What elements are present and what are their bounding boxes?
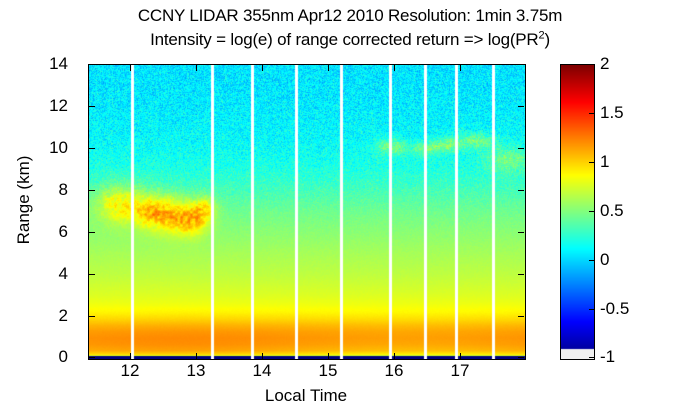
colorbar-tick-mark xyxy=(589,64,594,65)
x-tick-label: 16 xyxy=(374,362,414,379)
figure-title-line-2: Intensity = log(e) of range corrected re… xyxy=(0,28,700,52)
figure-title-line-2-text: Intensity = log(e) of range corrected re… xyxy=(150,30,538,49)
colorbar xyxy=(560,64,595,360)
y-tick-mark xyxy=(89,106,95,107)
y-tick-mark-right xyxy=(518,232,524,233)
colorbar-tick-mark xyxy=(589,113,594,114)
y-tick-mark-right xyxy=(518,106,524,107)
x-tick-mark xyxy=(196,353,197,359)
x-tick-mark-top xyxy=(460,65,461,71)
y-tick-label: 0 xyxy=(59,348,68,365)
colorbar-tick-label: 0.5 xyxy=(600,202,624,219)
colorbar-tick-mark xyxy=(589,309,594,310)
y-tick-mark xyxy=(89,316,95,317)
x-tick-mark-top xyxy=(130,65,131,71)
y-tick-mark xyxy=(89,64,95,65)
x-tick-mark-top xyxy=(328,65,329,71)
colorbar-tick-mark xyxy=(589,357,594,358)
lidar-heatmap-canvas xyxy=(89,65,525,359)
y-tick-label: 6 xyxy=(59,223,68,240)
y-tick-mark-right xyxy=(518,190,524,191)
lidar-heatmap-plot xyxy=(88,64,526,360)
y-tick-mark xyxy=(89,357,95,358)
x-tick-mark-top xyxy=(394,65,395,71)
y-tick-mark xyxy=(89,274,95,275)
colorbar-tick-label: -0.5 xyxy=(600,300,629,317)
x-tick-mark xyxy=(130,353,131,359)
x-tick-mark-top xyxy=(262,65,263,71)
x-tick-mark xyxy=(394,353,395,359)
y-tick-mark-right xyxy=(518,148,524,149)
y-tick-mark xyxy=(89,190,95,191)
y-tick-label: 2 xyxy=(59,307,68,324)
colorbar-tick-label: 2 xyxy=(600,55,609,72)
y-tick-mark-right xyxy=(518,64,524,65)
x-tick-mark-top xyxy=(196,65,197,71)
y-tick-label: 12 xyxy=(49,97,68,114)
colorbar-tick-label: 1 xyxy=(600,153,609,170)
lidar-figure: CCNY LIDAR 355nm Apr12 2010 Resolution: … xyxy=(0,0,700,420)
y-tick-mark xyxy=(89,232,95,233)
colorbar-tick-mark xyxy=(589,162,594,163)
x-tick-label: 15 xyxy=(308,362,348,379)
x-tick-label: 13 xyxy=(176,362,216,379)
colorbar-tick-label: 1.5 xyxy=(600,104,624,121)
y-tick-mark-right xyxy=(518,357,524,358)
x-tick-label: 12 xyxy=(110,362,150,379)
y-tick-label: 14 xyxy=(49,55,68,72)
colorbar-canvas xyxy=(561,65,594,359)
figure-title-block: CCNY LIDAR 355nm Apr12 2010 Resolution: … xyxy=(0,4,700,52)
figure-title-line-2-close: ) xyxy=(544,30,549,49)
y-tick-label: 10 xyxy=(49,139,68,156)
x-tick-label: 17 xyxy=(440,362,480,379)
colorbar-tick-mark xyxy=(589,260,594,261)
x-tick-label: 14 xyxy=(242,362,282,379)
y-tick-label: 4 xyxy=(59,265,68,282)
colorbar-tick-mark xyxy=(589,211,594,212)
x-axis-title: Local Time xyxy=(88,386,524,406)
colorbar-tick-label: 0 xyxy=(600,251,609,268)
y-tick-mark xyxy=(89,148,95,149)
x-tick-mark xyxy=(262,353,263,359)
x-tick-mark xyxy=(460,353,461,359)
y-axis-title: Range (km) xyxy=(14,110,34,290)
y-tick-label: 8 xyxy=(59,181,68,198)
figure-title-line-1: CCNY LIDAR 355nm Apr12 2010 Resolution: … xyxy=(0,4,700,28)
y-tick-mark-right xyxy=(518,274,524,275)
colorbar-tick-label: -1 xyxy=(600,348,615,365)
y-tick-mark-right xyxy=(518,316,524,317)
x-tick-mark xyxy=(328,353,329,359)
